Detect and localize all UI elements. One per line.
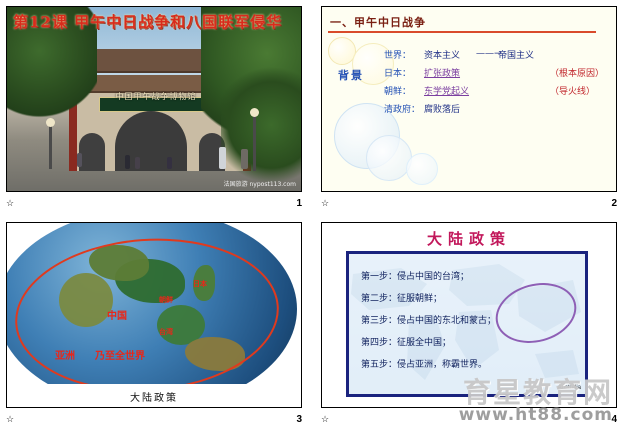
slide-cell-1: 中国甲午战争博物馆 第12课 甲午中日战争和八国联军侵华 法国旅游 nypost… — [6, 6, 302, 216]
background-row: 日本： 扩张政策 （根本原因） — [384, 63, 604, 81]
header-divider — [328, 31, 596, 33]
slide-1-footer: ☆ 1 — [6, 196, 302, 210]
map-marker-taiwan: 台湾 — [159, 327, 173, 337]
slide-2-footer: ☆ 2 — [321, 196, 617, 210]
row-note: （根本原因） — [550, 66, 604, 79]
star-icon: ☆ — [6, 414, 14, 425]
slide-number: 1 — [296, 198, 302, 209]
slide-number: 2 — [611, 198, 617, 209]
person-figure — [125, 155, 130, 169]
slide-2-header: 一、甲午中日战争 — [330, 14, 426, 30]
star-icon: ☆ — [321, 414, 329, 425]
policy-step: 第五步：侵占亚洲，称霸世界。 — [361, 354, 573, 376]
row-value-2: 帝国主义 — [498, 48, 550, 61]
row-key: 朝鲜： — [384, 84, 424, 97]
map-marker-asia: 亚洲 — [55, 347, 75, 362]
slide-handout-sheet: 中国甲午战争博物馆 第12课 甲午中日战争和八国联军侵华 法国旅游 nypost… — [0, 0, 623, 429]
row-value-1: 腐败落后 — [424, 102, 476, 115]
map-marker-korea: 朝鲜 — [159, 295, 173, 305]
slide-number: 3 — [296, 414, 302, 425]
star-icon: ☆ — [321, 198, 329, 209]
person-figure — [241, 149, 248, 169]
policy-step: 第一步：侵占中国的台湾； — [361, 266, 573, 288]
map-marker-world: 乃至全世界 — [95, 347, 145, 362]
slide-1[interactable]: 中国甲午战争博物馆 第12课 甲午中日战争和八国联军侵华 法国旅游 nypost… — [6, 6, 302, 192]
slide-4[interactable]: 大陆政策 第一步：侵占中国的台湾； 第二步：征服朝鲜； 第三步：侵占中国的东北和… — [321, 222, 617, 408]
map-marker-china: 中国 — [107, 307, 127, 322]
slide-cell-4: 大陆政策 第一步：侵占中国的台湾； 第二步：征服朝鲜； 第三步：侵占中国的东北和… — [321, 222, 617, 427]
caption-bar: 大陆政策 — [7, 384, 301, 407]
person-figure — [167, 157, 172, 169]
content-board: 第一步：侵占中国的台湾； 第二步：征服朝鲜； 第三步：侵占中国的东北和蒙古； 第… — [346, 251, 588, 397]
row-key: 清政府： — [384, 102, 424, 115]
background-row: 清政府： 腐败落后 — [384, 99, 604, 117]
person-figure — [135, 157, 140, 169]
slide-3[interactable]: 日本 朝鲜 中国 台湾 亚洲 乃至全世界 大陆政策 — [6, 222, 302, 408]
row-value-1-link[interactable]: 东学党起义 — [424, 84, 476, 97]
slide-4-footer: ☆ 4 — [321, 412, 617, 426]
decorative-bubble — [366, 135, 412, 181]
background-rows: 世界： 资本主义 ——→ 帝国主义 日本： 扩张政策 （根本原因） 朝鲜： 东学… — [384, 45, 604, 117]
australia-label: Australia — [558, 385, 581, 391]
row-key: 世界： — [384, 48, 424, 61]
slide-3-footer: ☆ 3 — [6, 412, 302, 426]
tree-right-lower — [221, 65, 302, 185]
row-key: 日本： — [384, 66, 424, 79]
slide-4-title: 大陆政策 — [322, 228, 616, 249]
policy-steps-list: 第一步：侵占中国的台湾； 第二步：征服朝鲜； 第三步：侵占中国的东北和蒙古； 第… — [361, 266, 573, 376]
gate-arch-left — [79, 133, 105, 171]
person-figure — [219, 147, 226, 169]
slide-cell-3: 日本 朝鲜 中国 台湾 亚洲 乃至全世界 大陆政策 ☆ 3 — [6, 222, 302, 427]
slide-number: 4 — [611, 414, 617, 425]
star-icon: ☆ — [6, 198, 14, 209]
background-row: 世界： 资本主义 ——→ 帝国主义 — [384, 45, 604, 63]
policy-step: 第二步：征服朝鲜； — [361, 288, 573, 310]
lamp-post-left — [49, 125, 52, 169]
row-value-1-link[interactable]: 扩张政策 — [424, 66, 476, 79]
lamp-post-right — [253, 115, 256, 171]
slide-3-caption: 大陆政策 — [130, 389, 178, 404]
decorative-bubble — [406, 153, 438, 185]
person-figure — [77, 153, 82, 167]
background-row: 朝鲜： 东学党起义 （导火线） — [384, 81, 604, 99]
slide-cell-2: 一、甲午中日战争 背景 世界： 资本主义 ——→ 帝国主义 日本： 扩张政策 （… — [321, 6, 617, 216]
row-note: （导火线） — [550, 84, 595, 97]
background-label: 背景 — [338, 67, 364, 83]
photo-credit: 法国旅游 nypost113.com — [224, 179, 296, 188]
map-marker-japan: 日本 — [193, 279, 207, 289]
row-value-1: 资本主义 — [424, 48, 476, 61]
policy-step: 第四步：征服全中国； — [361, 332, 573, 354]
slide-2[interactable]: 一、甲午中日战争 背景 世界： 资本主义 ——→ 帝国主义 日本： 扩张政策 （… — [321, 6, 617, 192]
arrow-icon: ——→ — [476, 49, 498, 59]
policy-step: 第三步：侵占中国的东北和蒙古； — [361, 310, 573, 332]
slide-1-title: 第12课 甲午中日战争和八国联军侵华 — [13, 11, 282, 32]
